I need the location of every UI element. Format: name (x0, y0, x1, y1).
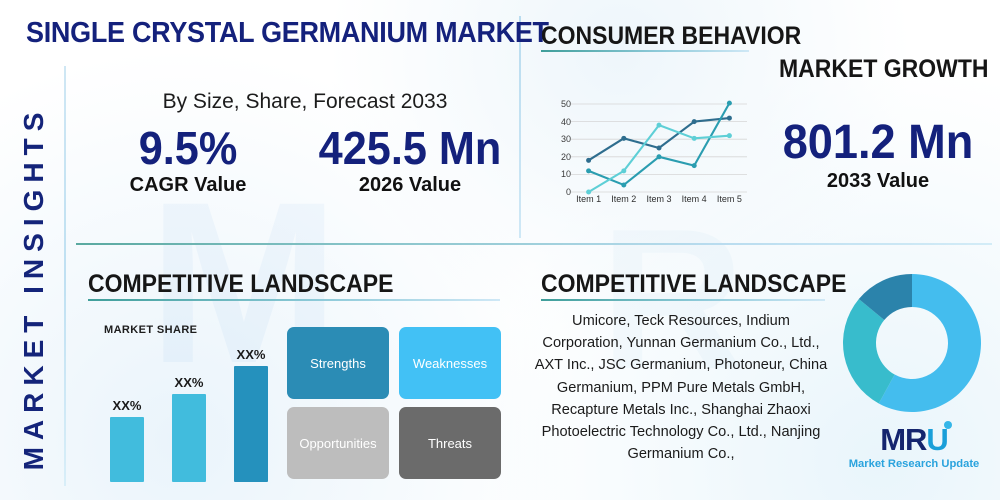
page-title: SINGLE CRYSTAL GERMANIUM MARKET (26, 17, 491, 50)
kpi-base-year: 425.5 Mn 2026 Value (300, 124, 520, 197)
line-chart-plot (545, 100, 751, 200)
brand-logo: MRU Market Research Update (848, 424, 980, 470)
consumer-behavior-underline (541, 50, 749, 52)
company-list: Umicore, Teck Resources, Indium Corporat… (531, 310, 831, 465)
infographic-canvas: M R MARKET INSIGHTS SINGLE CRYSTAL GERMA… (0, 0, 1000, 500)
swot-box-opportunities[interactable]: Opportunities (287, 407, 389, 479)
section-heading-competitive-landscape-left: COMPETITIVE LANDSCAPE (88, 270, 393, 299)
market-share-bar (234, 366, 268, 482)
line-chart-y-tick: 50 (561, 99, 571, 109)
swot-box-label: Threats (428, 436, 472, 451)
page-subtitle: By Size, Share, Forecast 2033 (120, 90, 490, 114)
market-share-bar (110, 417, 144, 482)
line-chart-x-tick: Item 3 (646, 194, 671, 204)
line-chart-x-tick: Item 4 (682, 194, 707, 204)
swot-grid: StrengthsWeaknessesOpportunitiesThreats (287, 327, 501, 479)
swot-box-label: Weaknesses (413, 356, 487, 371)
competitive-landscape-right-underline (541, 299, 825, 301)
kpi-base-year-value: 425.5 Mn (307, 124, 514, 172)
market-share-label: MARKET SHARE (104, 324, 197, 336)
kpi-cagr-value: 9.5% (113, 124, 263, 172)
logo-subtitle: Market Research Update (848, 458, 980, 470)
swot-box-label: Strengths (310, 356, 366, 371)
logo-dot-icon (944, 421, 952, 429)
swot-box-weaknesses[interactable]: Weaknesses (399, 327, 501, 399)
kpi-forecast-year-label: 2033 Value (760, 170, 996, 193)
line-chart-x-tick: Item 5 (717, 194, 742, 204)
line-chart-x-tick: Item 2 (611, 194, 636, 204)
side-label-market-insights: MARKET INSIGHTS (18, 78, 50, 498)
kpi-forecast-year: 801.2 Mn 2033 Value (760, 118, 996, 193)
line-chart-y-tick: 0 (566, 187, 571, 197)
section-heading-consumer-behavior: CONSUMER BEHAVIOR (541, 22, 801, 51)
kpi-base-year-label: 2026 Value (300, 174, 520, 197)
market-share-bar-label: XX% (113, 398, 142, 413)
line-chart-x-tick: Item 1 (576, 194, 601, 204)
market-share-bar-label: XX% (237, 347, 266, 362)
kpi-forecast-year-value: 801.2 Mn (767, 118, 989, 168)
swot-box-threats[interactable]: Threats (399, 407, 501, 479)
market-share-bar-label: XX% (175, 375, 204, 390)
section-heading-competitive-landscape-right: COMPETITIVE LANDSCAPE (541, 270, 846, 299)
logo-mark-mr: MR (880, 422, 926, 457)
swot-box-strengths[interactable]: Strengths (287, 327, 389, 399)
line-chart-y-tick: 40 (561, 117, 571, 127)
line-chart-y-tick: 20 (561, 152, 571, 162)
line-chart-y-tick: 10 (561, 169, 571, 179)
market-share-bar (172, 394, 206, 482)
market-share-bar-chart: XX%XX%XX% (104, 340, 264, 482)
section-heading-market-growth: MARKET GROWTH (779, 55, 989, 84)
line-chart-y-axis: 01020304050 (545, 100, 571, 192)
kpi-cagr: 9.5% CAGR Value (108, 124, 268, 197)
donut-chart-svg (841, 272, 983, 414)
swot-box-label: Opportunities (299, 436, 376, 451)
line-chart-y-tick: 30 (561, 134, 571, 144)
kpi-cagr-label: CAGR Value (108, 174, 268, 197)
horizontal-divider (76, 243, 992, 245)
consumer-behavior-line-chart: 01020304050 Item 1Item 2Item 3Item 4Item… (545, 100, 775, 220)
logo-mark: MRU (880, 424, 948, 455)
left-vertical-divider (64, 66, 66, 486)
competitive-landscape-left-underline (88, 299, 500, 301)
competitive-landscape-donut-chart (841, 272, 983, 414)
